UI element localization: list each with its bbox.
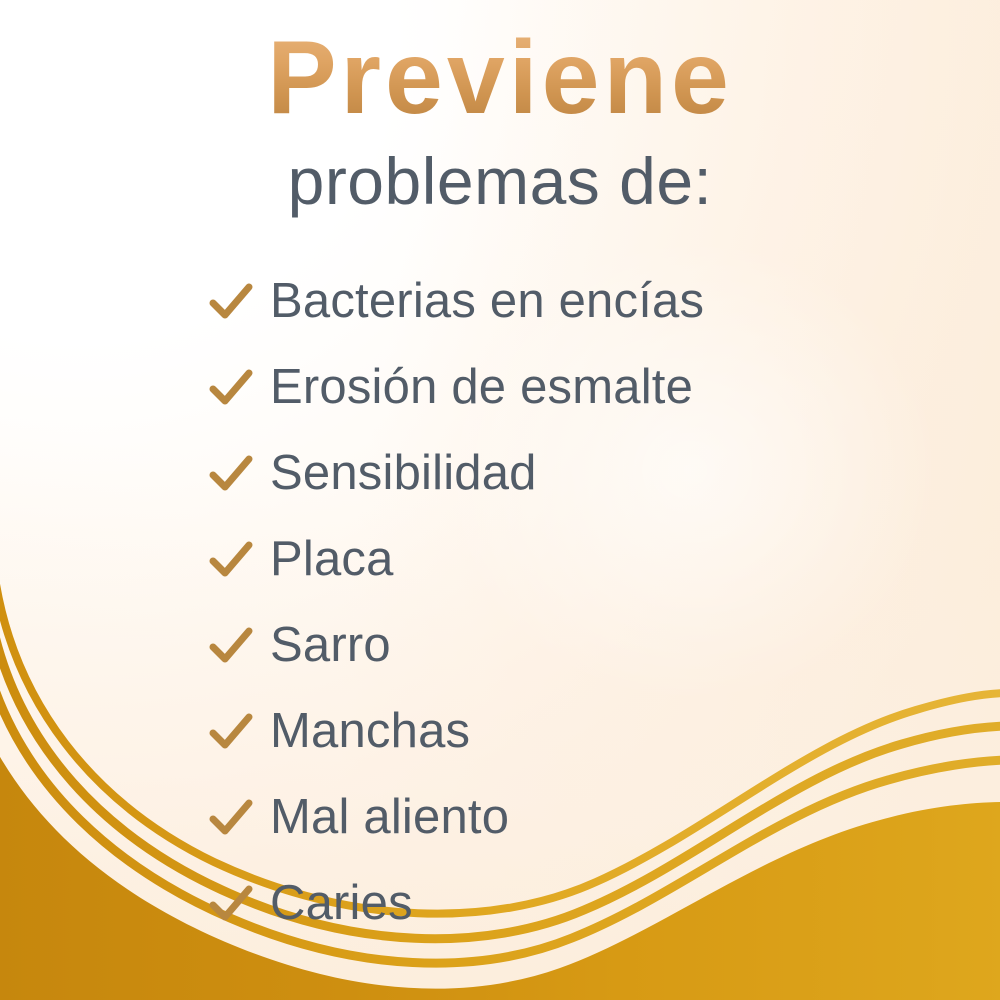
list-item-label: Mal aliento: [270, 793, 509, 842]
list-item-label: Sarro: [270, 621, 391, 670]
list-item-label: Erosión de esmalte: [270, 363, 693, 412]
list-item-label: Manchas: [270, 707, 470, 756]
card-header: Previene problemas de:: [0, 26, 1000, 214]
list-item-label: Sensibilidad: [270, 449, 537, 498]
list-item: Sensibilidad: [208, 430, 908, 516]
page-subtitle: problemas de:: [0, 148, 1000, 214]
check-icon: [208, 708, 254, 754]
list-item-label: Bacterias en encías: [270, 277, 704, 326]
page-title: Previene: [0, 26, 1000, 130]
check-icon: [208, 794, 254, 840]
list-item: Sarro: [208, 602, 908, 688]
list-item: Manchas: [208, 688, 908, 774]
check-icon: [208, 622, 254, 668]
list-item-label: Caries: [270, 879, 413, 928]
check-icon: [208, 364, 254, 410]
list-item-label: Placa: [270, 535, 394, 584]
list-item: Caries: [208, 860, 908, 946]
list-item: Erosión de esmalte: [208, 344, 908, 430]
check-icon: [208, 536, 254, 582]
check-icon: [208, 450, 254, 496]
benefits-card: Previene problemas de: Bacterias en encí…: [0, 0, 1000, 1000]
check-icon: [208, 278, 254, 324]
check-icon: [208, 880, 254, 926]
list-item: Placa: [208, 516, 908, 602]
benefits-list: Bacterias en encías Erosión de esmalte S…: [208, 258, 908, 946]
list-item: Bacterias en encías: [208, 258, 908, 344]
list-item: Mal aliento: [208, 774, 908, 860]
